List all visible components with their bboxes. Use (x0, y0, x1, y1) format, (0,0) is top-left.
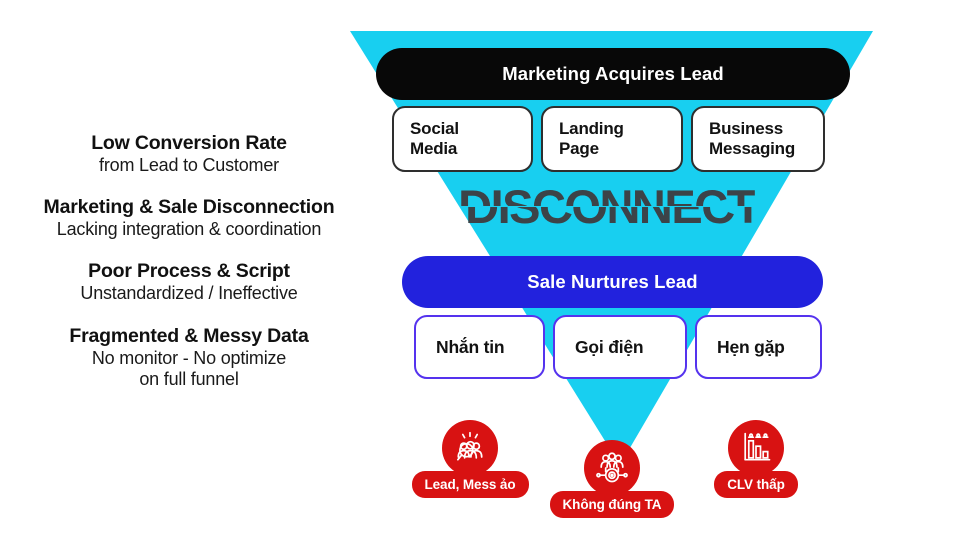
badge-label: Lead, Mess ảo (412, 471, 529, 498)
channel-card-label: Hẹn gặp (717, 337, 785, 358)
outcome-badge-lead-mess-ao[interactable]: Lead, Mess ảo (404, 420, 536, 498)
pain-point-title: Poor Process & Script (0, 260, 378, 283)
channel-card-nhan-tin[interactable]: Nhắn tin (414, 315, 545, 379)
disconnect-label: DISCONNECT DISCONNECT (424, 182, 794, 232)
channel-card-hen-gap[interactable]: Hẹn gặp (695, 315, 822, 379)
stage-bar-marketing[interactable]: Marketing Acquires Lead (376, 48, 850, 100)
pain-point-subtitle: from Lead to Customer (0, 155, 378, 176)
channel-card-label: Landing Page (559, 119, 624, 160)
badge-label: CLV thấp (714, 471, 797, 498)
slide-canvas: Low Conversion Rate from Lead to Custome… (0, 0, 960, 540)
badge-label: Không đúng TA (550, 491, 675, 518)
pain-point-list: Low Conversion Rate from Lead to Custome… (0, 132, 378, 410)
badge-circle (584, 440, 640, 496)
pain-point-subtitle: Lacking integration & coordination (0, 219, 378, 240)
badge-circle (728, 420, 784, 476)
stage-bar-sale[interactable]: Sale Nurtures Lead (402, 256, 823, 308)
outcome-badge-clv-thap[interactable]: CLV thấp (690, 420, 822, 498)
channel-card-goi-dien[interactable]: Gọi điện (553, 315, 687, 379)
pain-point-item: Poor Process & Script Unstandardized / I… (0, 260, 378, 304)
channel-card-label: Business Messaging (709, 119, 795, 160)
channel-card-row-marketing: Social Media Landing Page Business Messa… (392, 106, 825, 172)
pain-point-subtitle: Unstandardized / Ineffective (0, 283, 378, 304)
channel-card-label: Nhắn tin (436, 337, 504, 358)
magnifier-over-people-icon (452, 430, 488, 466)
pain-point-title: Marketing & Sale Disconnection (0, 196, 378, 219)
channel-card-row-sale: Nhắn tin Gọi điện Hẹn gặp (414, 315, 822, 379)
declining-bar-chart-icon (738, 430, 774, 466)
channel-card-social-media[interactable]: Social Media (392, 106, 533, 172)
pain-point-item: Fragmented & Messy Data No monitor - No … (0, 325, 378, 390)
pain-point-item: Marketing & Sale Disconnection Lacking i… (0, 196, 378, 240)
pain-point-title: Low Conversion Rate (0, 132, 378, 155)
badge-circle (442, 420, 498, 476)
channel-card-landing-page[interactable]: Landing Page (541, 106, 683, 172)
stage-bar-sale-label: Sale Nurtures Lead (527, 271, 697, 293)
stage-bar-marketing-label: Marketing Acquires Lead (502, 63, 724, 85)
channel-card-business-messaging[interactable]: Business Messaging (691, 106, 825, 172)
channel-card-label: Social Media (410, 119, 459, 160)
outcome-badge-khong-dung-ta[interactable]: Không đúng TA (546, 440, 678, 518)
channel-card-label: Gọi điện (575, 337, 643, 358)
pain-point-subtitle-line-2: on full funnel (0, 369, 378, 390)
people-target-icon (594, 450, 630, 486)
pain-point-subtitle-line-1: No monitor - No optimize (0, 348, 378, 369)
pain-point-item: Low Conversion Rate from Lead to Custome… (0, 132, 378, 176)
pain-point-title: Fragmented & Messy Data (0, 325, 378, 348)
